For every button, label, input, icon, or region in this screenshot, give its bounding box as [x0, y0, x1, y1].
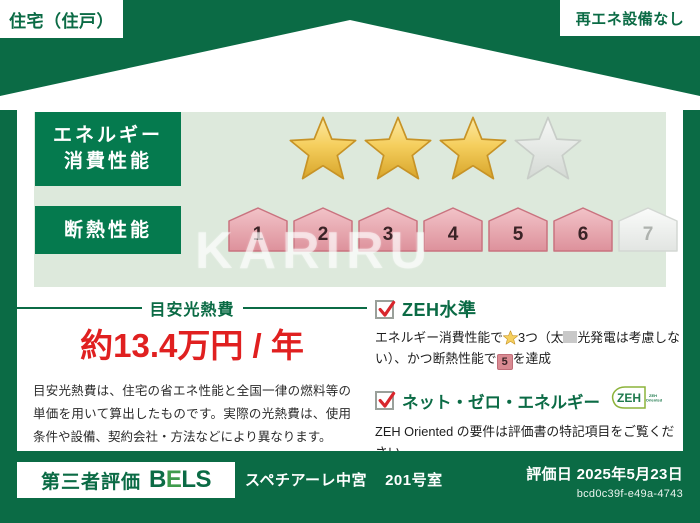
insulation-step-3: 3	[357, 206, 419, 253]
cost-column: 目安光熱費 約13.4万円 / 年 目安光熱費は、住宅の省エネ性能と全国一律の燃…	[17, 296, 367, 451]
insulation-step-label: 1	[227, 224, 289, 246]
cost-note: 目安光熱費は、住宅の省エネ性能と全国一律の燃料等の単価を用いて算出したものです。…	[17, 380, 367, 449]
insulation-step-4: 4	[422, 206, 484, 253]
building-name: スペチアーレ中宮	[245, 469, 367, 490]
cost-value: 約13.4万円 / 年	[17, 329, 367, 362]
bels-letter-l: L	[181, 466, 195, 493]
evaluation-date: 評価日 2025年5月23日	[526, 463, 683, 484]
energy-star-rating	[289, 114, 582, 182]
star-filled-icon	[439, 114, 507, 182]
redaction-block	[563, 331, 577, 343]
insulation-step-6: 6	[552, 206, 614, 253]
cost-heading-row: 目安光熱費	[17, 296, 367, 320]
lower-content: 目安光熱費 約13.4万円 / 年 目安光熱費は、住宅の省エネ性能と全国一律の燃…	[17, 296, 683, 451]
page-title: 省エネ性能ラベル	[0, 59, 700, 88]
insulation-step-label: 2	[292, 224, 354, 246]
zeh-standard-title: ZEH水準	[402, 296, 477, 322]
tag-renewable-equipment: 再エネ設備なし	[558, 0, 700, 38]
bels-letter-b: B	[149, 466, 166, 493]
zeh-standard-block: ZEH水準 エネルギー消費性能で3つ（太光発電は考慮しない）、かつ断熱性能で5を…	[375, 296, 680, 370]
bels-letter-s: S	[196, 466, 212, 493]
insulation-step-1: 1	[227, 206, 289, 253]
net-zero-check-row: ネット・ゼロ・エネルギー ZEH ZEH Oriented	[375, 385, 680, 416]
insulation-chip-label: 断熱性能	[64, 221, 152, 240]
svg-text:ZEH: ZEH	[617, 391, 641, 405]
cost-heading-rule-right	[243, 307, 368, 309]
building-info: スペチアーレ中宮 201号室	[245, 469, 443, 490]
insulation-step-5: 5	[487, 206, 549, 253]
cost-heading-rule-left	[17, 307, 142, 309]
zeh-body-part4: を達成	[513, 351, 551, 366]
star-filled-icon	[289, 114, 357, 182]
insulation-step-label: 7	[617, 224, 679, 246]
inline-star-icon	[503, 330, 518, 345]
energy-chip-line2: 消費性能	[64, 149, 152, 175]
bels-wordmark: BELS	[149, 468, 211, 492]
star-filled-icon	[364, 114, 432, 182]
insulation-step-7: 7	[617, 206, 679, 253]
checks-column: ZEH水準 エネルギー消費性能で3つ（太光発電は考慮しない）、かつ断熱性能で5を…	[375, 296, 680, 451]
main-card: エネルギー 消費性能	[17, 96, 683, 451]
bels-energy-label: 住宅（住戸） 再エネ設備なし 建築物省エネ法に基づく 省エネ性能ラベル エネルギ…	[0, 0, 700, 523]
bels-logo-box: 第三者評価 BELS	[17, 462, 235, 498]
net-zero-title: ネット・ゼロ・エネルギー	[402, 389, 600, 413]
check-icon	[377, 391, 396, 410]
insulation-step-label: 5	[487, 224, 549, 246]
evaluation-id: bcd0c39f-e49a-4743	[526, 488, 683, 500]
zeh-oriented-logo: ZEH ZEH Oriented	[610, 385, 664, 416]
energy-performance-chip: エネルギー 消費性能	[35, 112, 181, 186]
bels-letter-e: E	[166, 466, 182, 493]
zeh-body-part2: 3つ（太	[518, 330, 564, 345]
header-subtitle: 建築物省エネ法に基づく	[0, 38, 700, 52]
evaluation-info: 評価日 2025年5月23日 bcd0c39f-e49a-4743	[526, 463, 683, 500]
checkbox-checked[interactable]	[375, 391, 394, 410]
tag-housing-type: 住宅（住戸）	[0, 0, 125, 40]
insulation-step-label: 3	[357, 224, 419, 246]
zeh-standard-check-row: ZEH水準	[375, 296, 680, 322]
footer: 第三者評価 BELS スペチアーレ中宮 201号室 評価日 2025年5月23日…	[0, 451, 700, 523]
insulation-performance-chip: 断熱性能	[35, 206, 181, 254]
zeh-body-part1: エネルギー消費性能で	[375, 330, 503, 345]
insulation-rating-scale: 1 2 3 4 5	[227, 206, 679, 253]
svg-text:Oriented: Oriented	[646, 398, 663, 403]
checkbox-checked[interactable]	[375, 300, 394, 319]
room-number: 201号室	[385, 469, 443, 490]
check-icon	[377, 300, 396, 319]
header-text-group: 建築物省エネ法に基づく 省エネ性能ラベル	[0, 38, 700, 88]
energy-chip-line1: エネルギー	[53, 123, 163, 149]
third-party-evaluation-label: 第三者評価	[41, 467, 141, 494]
star-empty-icon	[514, 114, 582, 182]
cost-heading: 目安光熱費	[150, 296, 235, 320]
insulation-step-label: 4	[422, 224, 484, 246]
insulation-step-label: 6	[552, 224, 614, 246]
insulation-grade-badge: 5	[497, 354, 513, 370]
zeh-standard-body: エネルギー消費性能で3つ（太光発電は考慮しない）、かつ断熱性能で5を達成	[375, 327, 680, 370]
insulation-step-2: 2	[292, 206, 354, 253]
